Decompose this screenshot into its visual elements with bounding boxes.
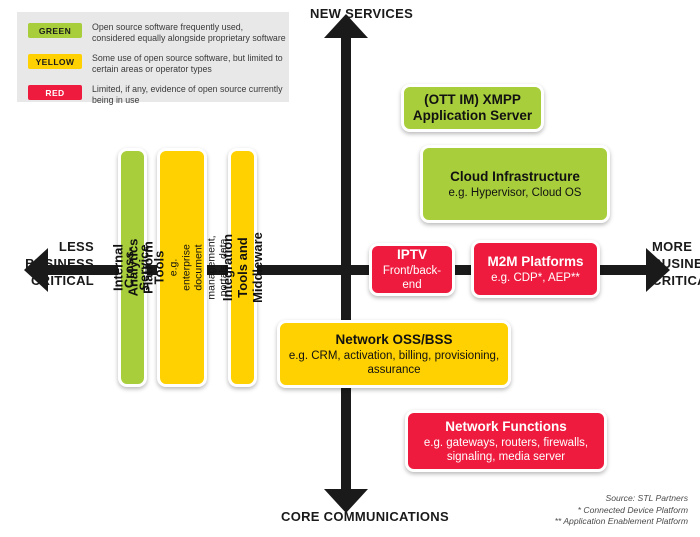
- legend: GREEN Open source software frequently us…: [17, 12, 289, 102]
- box-title: Cloud Infrastructure: [449, 169, 582, 185]
- source-line-1: Source: STL Partners: [438, 493, 688, 505]
- box-ott-im-xmpp-application-server[interactable]: (OTT IM) XMPP Application Server: [401, 84, 544, 132]
- box-content: Network OSS/BSS e.g. CRM, activation, bi…: [280, 330, 508, 379]
- box-cross-service-tools[interactable]: Cross-Service Tools e.g. enterprise docu…: [157, 148, 207, 387]
- legend-item-green: GREEN Open source software frequently us…: [28, 22, 287, 44]
- legend-item-red: RED Limited, if any, evidence of open so…: [28, 84, 287, 106]
- box-content: (OTT IM) XMPP Application Server: [404, 90, 541, 126]
- source-line-2: * Connected Device Platform: [438, 505, 688, 517]
- legend-text-red: Limited, if any, evidence of open source…: [92, 84, 287, 106]
- box-subtitle: e.g. CRM, activation, billing, provision…: [286, 349, 502, 377]
- axis-label-right: MORE BUSINESS CRITICAL: [652, 238, 700, 289]
- box-content: M2M Platforms e.g. CDP*, AEP**: [481, 252, 589, 287]
- box-title: Integration Tools and Middleware: [220, 232, 265, 303]
- box-content: Integration Tools and Middleware: [218, 226, 267, 309]
- source-note: Source: STL Partners * Connected Device …: [438, 493, 688, 528]
- box-m2m-platforms[interactable]: M2M Platforms e.g. CDP*, AEP**: [471, 240, 600, 298]
- box-title: Cross-Service Tools: [122, 235, 167, 299]
- box-title: M2M Platforms: [487, 254, 583, 270]
- box-content: IPTV Front/back-end: [372, 245, 452, 294]
- box-cloud-infrastructure[interactable]: Cloud Infrastructure e.g. Hypervisor, Cl…: [420, 145, 610, 223]
- legend-text-yellow: Some use of open source software, but li…: [92, 53, 287, 75]
- box-iptv[interactable]: IPTV Front/back-end: [369, 243, 455, 296]
- box-title: Network Functions: [414, 419, 598, 435]
- box-title: Network OSS/BSS: [286, 332, 502, 348]
- box-title: (OTT IM) XMPP Application Server: [410, 92, 535, 124]
- legend-text-green: Open source software frequently used, co…: [92, 22, 287, 44]
- box-subtitle: e.g. CDP*, AEP**: [487, 271, 583, 285]
- box-subtitle: e.g. gateways, routers, firewalls, signa…: [414, 436, 598, 464]
- axis-label-bottom: CORE COMMUNICATIONS: [281, 509, 449, 524]
- legend-chip-yellow: YELLOW: [28, 54, 82, 69]
- box-content: Network Functions e.g. gateways, routers…: [408, 417, 604, 466]
- source-line-3: ** Application Enablement Platform: [438, 516, 688, 528]
- box-network-functions[interactable]: Network Functions e.g. gateways, routers…: [405, 410, 607, 472]
- legend-chip-green: GREEN: [28, 23, 82, 38]
- axis-label-left: LESS BUSINESS CRITICAL: [12, 238, 94, 289]
- box-subtitle: e.g. Hypervisor, Cloud OS: [449, 186, 582, 200]
- diagram-canvas: GREEN Open source software frequently us…: [0, 0, 700, 537]
- axis-label-top: NEW SERVICES: [310, 6, 413, 21]
- box-integration-tools-and-middleware[interactable]: Integration Tools and Middleware: [228, 148, 257, 387]
- box-network-oss-bss[interactable]: Network OSS/BSS e.g. CRM, activation, bi…: [277, 320, 511, 388]
- legend-chip-red: RED: [28, 85, 82, 100]
- box-title: IPTV: [378, 247, 446, 263]
- box-subtitle: Front/back-end: [378, 264, 446, 292]
- box-content: Cloud Infrastructure e.g. Hypervisor, Cl…: [443, 167, 588, 202]
- legend-item-yellow: YELLOW Some use of open source software,…: [28, 53, 287, 75]
